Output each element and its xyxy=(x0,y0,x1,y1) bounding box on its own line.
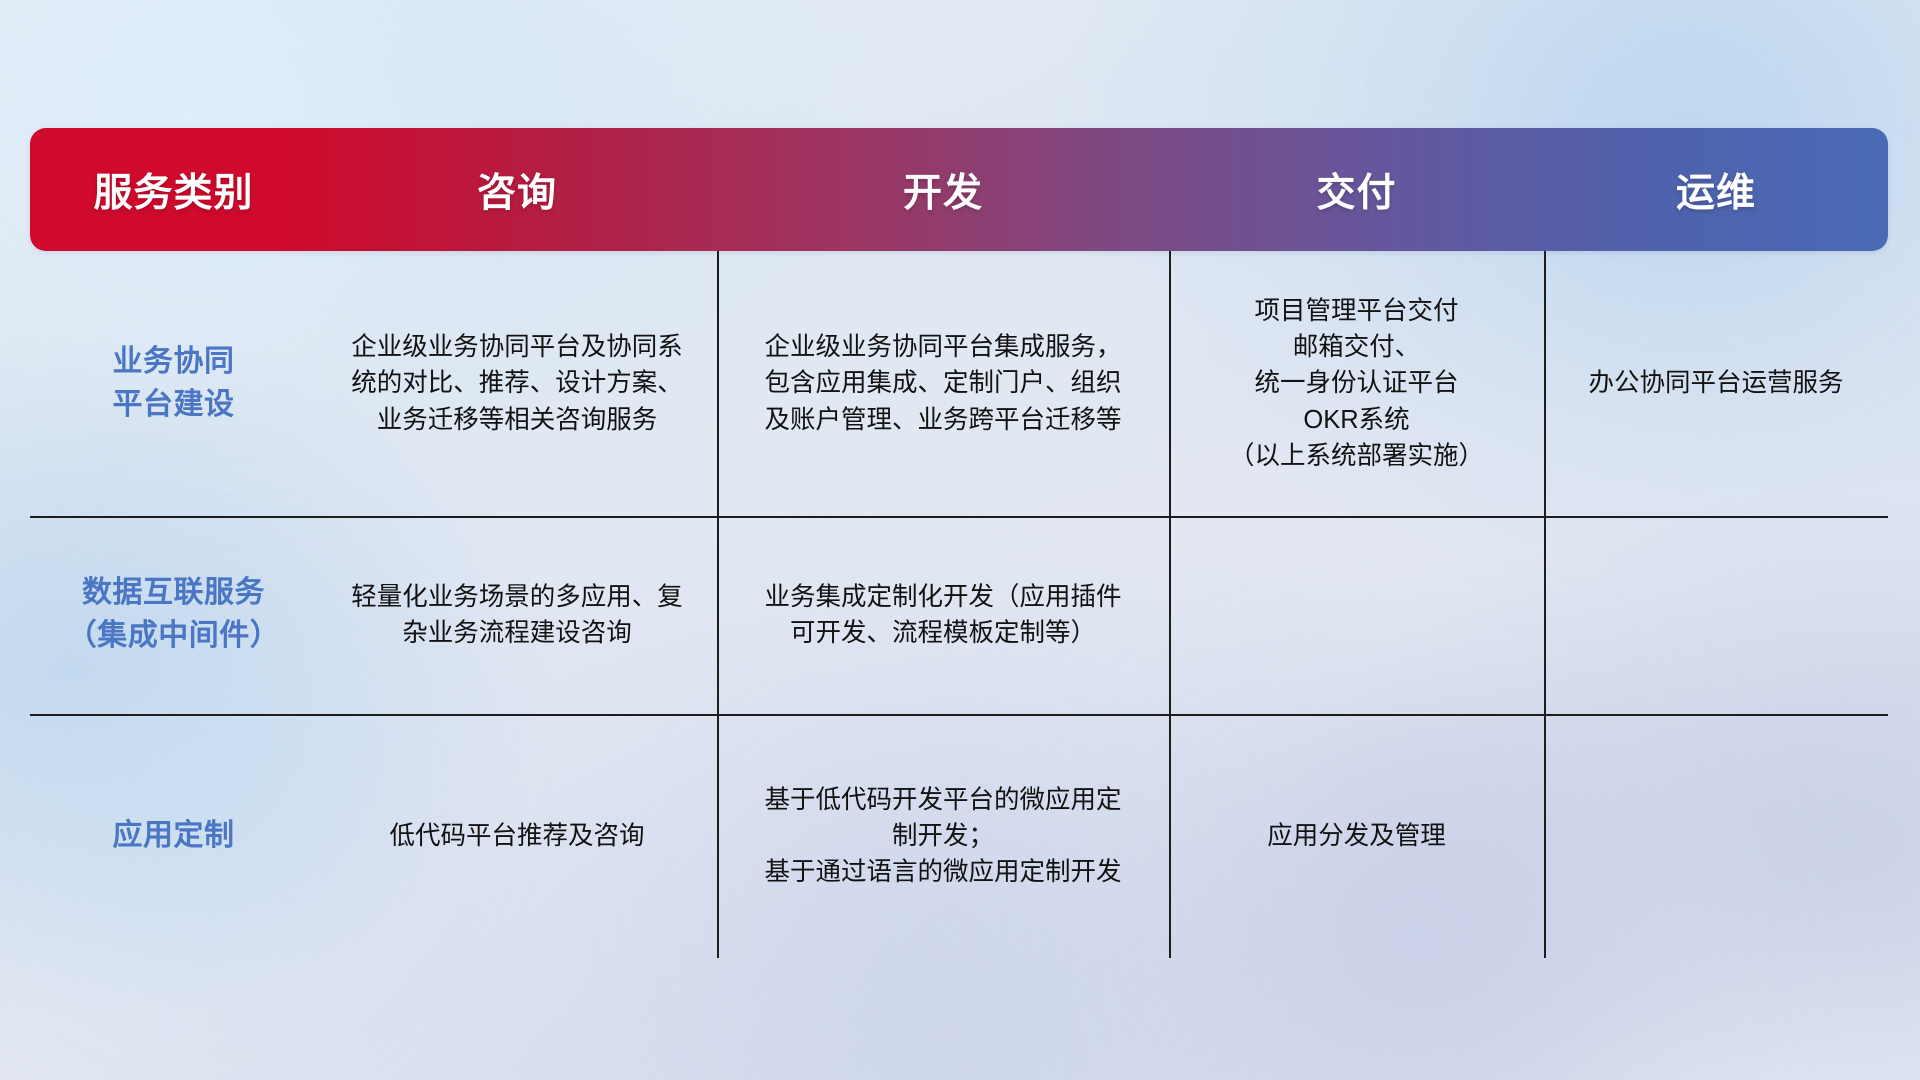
row-category-label: 业务协同 平台建设 xyxy=(44,341,303,426)
cell-development-text: 企业级业务协同平台集成服务， 包含应用集成、定制门户、组织 及账户管理、业务跨平… xyxy=(731,329,1155,438)
cell-operations xyxy=(1544,516,1888,714)
cell-development: 企业级业务协同平台集成服务， 包含应用集成、定制门户、组织 及账户管理、业务跨平… xyxy=(717,251,1169,516)
header-operations: 运维 xyxy=(1544,162,1888,218)
table-body: 业务协同 平台建设 企业级业务协同平台及协同系 统的对比、推荐、设计方案、 业务… xyxy=(30,251,1888,958)
cell-development-text: 基于低代码开发平台的微应用定 制开发； 基于通过语言的微应用定制开发 xyxy=(731,782,1155,891)
cell-consulting: 企业级业务协同平台及协同系 统的对比、推荐、设计方案、 业务迁移等相关咨询服务 xyxy=(317,251,717,516)
row-category-label: 应用定制 xyxy=(44,815,303,858)
cell-delivery-text: 项目管理平台交付 邮箱交付、 统一身份认证平台 OKR系统 （以上系统部署实施） xyxy=(1183,293,1530,474)
table-header-row: 服务类别 咨询 开发 交付 运维 xyxy=(30,128,1888,251)
cell-delivery-text: 应用分发及管理 xyxy=(1183,818,1530,854)
header-service-category: 服务类别 xyxy=(30,162,317,218)
cell-consulting-text: 低代码平台推荐及咨询 xyxy=(331,818,703,854)
table-row: 应用定制 低代码平台推荐及咨询 基于低代码开发平台的微应用定 制开发； 基于通过… xyxy=(30,714,1888,958)
cell-consulting: 低代码平台推荐及咨询 xyxy=(317,714,717,958)
cell-development-text: 业务集成定制化开发（应用插件 可开发、流程模板定制等） xyxy=(731,579,1155,651)
header-development: 开发 xyxy=(717,162,1169,218)
grid-vline-3 xyxy=(1544,251,1546,958)
row-category-label: 数据互联服务 （集成中间件） xyxy=(44,572,303,657)
table-row: 数据互联服务 （集成中间件） 轻量化业务场景的多应用、复 杂业务流程建设咨询 业… xyxy=(30,516,1888,714)
header-delivery: 交付 xyxy=(1169,162,1544,218)
grid-vline-2 xyxy=(1169,251,1171,958)
cell-consulting-text: 企业级业务协同平台及协同系 统的对比、推荐、设计方案、 业务迁移等相关咨询服务 xyxy=(331,329,703,438)
grid-vline-1 xyxy=(717,251,719,958)
cell-delivery xyxy=(1169,516,1544,714)
cell-operations-text: 办公协同平台运营服务 xyxy=(1558,365,1874,401)
cell-development: 业务集成定制化开发（应用插件 可开发、流程模板定制等） xyxy=(717,516,1169,714)
row-category-cell: 数据互联服务 （集成中间件） xyxy=(30,516,317,714)
cell-operations: 办公协同平台运营服务 xyxy=(1544,251,1888,516)
cell-consulting-text: 轻量化业务场景的多应用、复 杂业务流程建设咨询 xyxy=(331,579,703,651)
cell-delivery: 项目管理平台交付 邮箱交付、 统一身份认证平台 OKR系统 （以上系统部署实施） xyxy=(1169,251,1544,516)
grid-hline-1 xyxy=(30,516,1888,518)
cell-delivery: 应用分发及管理 xyxy=(1169,714,1544,958)
service-matrix-table: 服务类别 咨询 开发 交付 运维 业务协同 平台建设 企业级业务协同平台及协同系… xyxy=(30,128,1888,958)
header-consulting: 咨询 xyxy=(317,162,717,218)
row-category-cell: 业务协同 平台建设 xyxy=(30,251,317,516)
cell-operations xyxy=(1544,714,1888,958)
grid-hline-2 xyxy=(30,714,1888,716)
table-row: 业务协同 平台建设 企业级业务协同平台及协同系 统的对比、推荐、设计方案、 业务… xyxy=(30,251,1888,516)
row-category-cell: 应用定制 xyxy=(30,714,317,958)
cell-development: 基于低代码开发平台的微应用定 制开发； 基于通过语言的微应用定制开发 xyxy=(717,714,1169,958)
cell-consulting: 轻量化业务场景的多应用、复 杂业务流程建设咨询 xyxy=(317,516,717,714)
